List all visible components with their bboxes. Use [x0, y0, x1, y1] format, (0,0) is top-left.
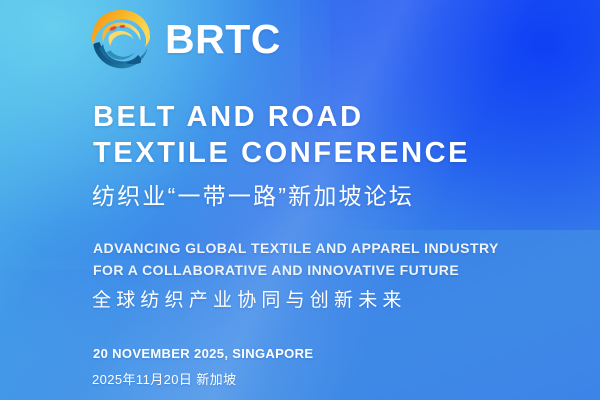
tagline-line-1: ADVANCING GLOBAL TEXTILE AND APPAREL IND… — [93, 238, 499, 260]
event-date-location-chinese: 2025年11月20日 新加坡 — [92, 372, 237, 388]
brand-lockup: BRTC — [88, 6, 281, 72]
brtc-logo-icon — [88, 6, 154, 72]
page-title-line-1: BELT AND ROAD — [93, 100, 470, 136]
brand-wordmark: BRTC — [165, 19, 281, 60]
page-title-line-2: TEXTILE CONFERENCE — [93, 136, 470, 172]
event-date-location: 20 NOVEMBER 2025, SINGAPORE — [93, 346, 313, 362]
tagline: ADVANCING GLOBAL TEXTILE AND APPAREL IND… — [93, 238, 499, 281]
tagline-line-2: FOR A COLLABORATIVE AND INNOVATIVE FUTUR… — [93, 260, 499, 282]
tagline-chinese: 全球纺织产业协同与创新未来 — [92, 290, 407, 313]
conference-poster: BRTC BELT AND ROAD TEXTILE CONFERENCE 纺织… — [0, 0, 600, 400]
poster-content: BRTC BELT AND ROAD TEXTILE CONFERENCE 纺织… — [0, 0, 600, 400]
page-title-chinese: 纺织业“一带一路”新加坡论坛 — [92, 182, 414, 211]
page-title: BELT AND ROAD TEXTILE CONFERENCE — [93, 100, 470, 171]
